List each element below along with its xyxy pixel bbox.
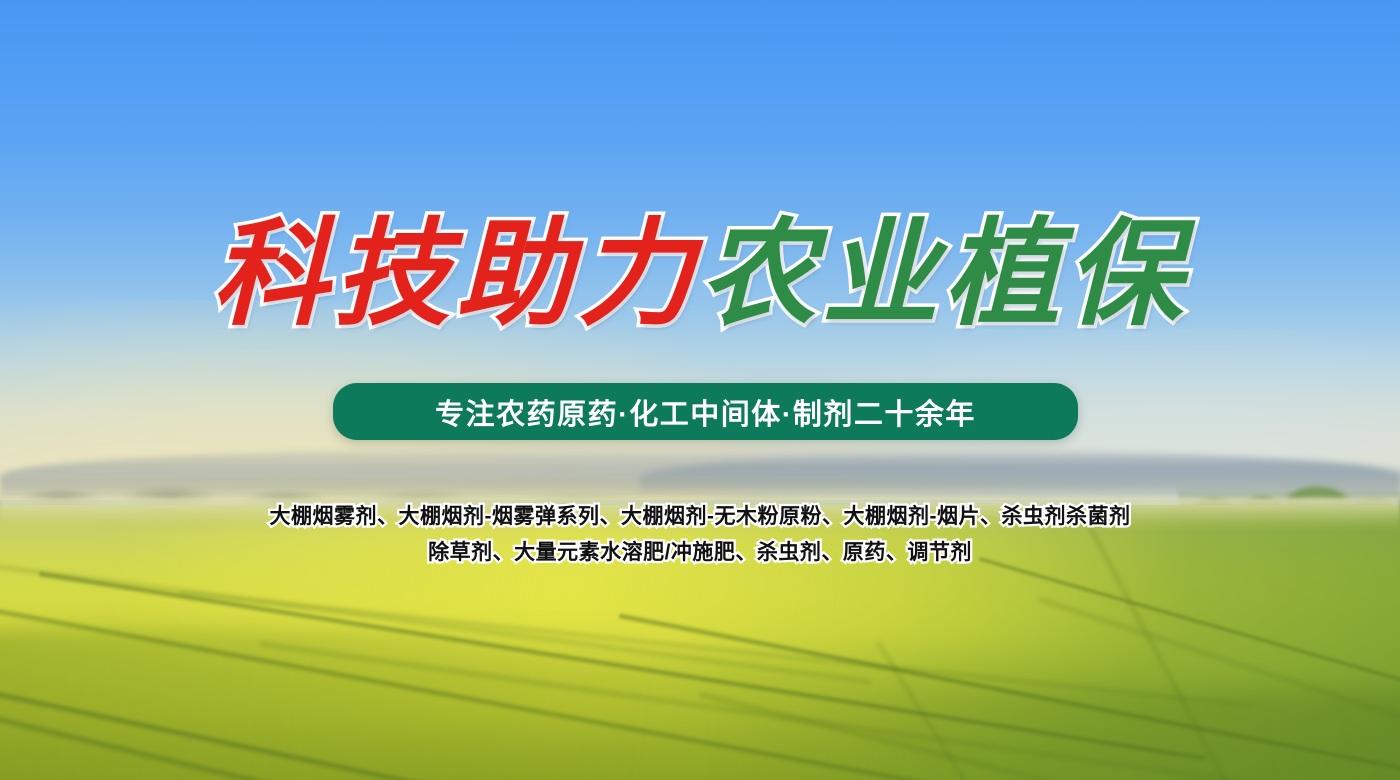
subtitle-text: 专注农药原药·化工中间体·制剂二十余年	[435, 391, 976, 433]
product-line-2: 除草剂、大量元素水溶肥/冲施肥、杀虫剂、原药、调节剂	[0, 534, 1400, 572]
subtitle-pill: 专注农药原药·化工中间体·制剂二十余年	[333, 383, 1078, 440]
headline-green-part: 农业植保	[700, 206, 1188, 342]
hero-banner: 科技助力农业植保 专注农药原药·化工中间体·制剂二十余年 大棚烟雾剂、大棚烟剂-…	[0, 0, 1400, 780]
product-list: 大棚烟雾剂、大棚烟剂-烟雾弹系列、大棚烟剂-无木粉原粉、大棚烟剂-烟片、杀虫剂杀…	[0, 500, 1400, 572]
product-line-1: 大棚烟雾剂、大棚烟剂-烟雾弹系列、大棚烟剂-无木粉原粉、大棚烟剂-烟片、杀虫剂杀…	[0, 500, 1400, 534]
headline-red-part: 科技助力	[212, 206, 700, 342]
banner-headline: 科技助力农业植保	[0, 216, 1400, 332]
